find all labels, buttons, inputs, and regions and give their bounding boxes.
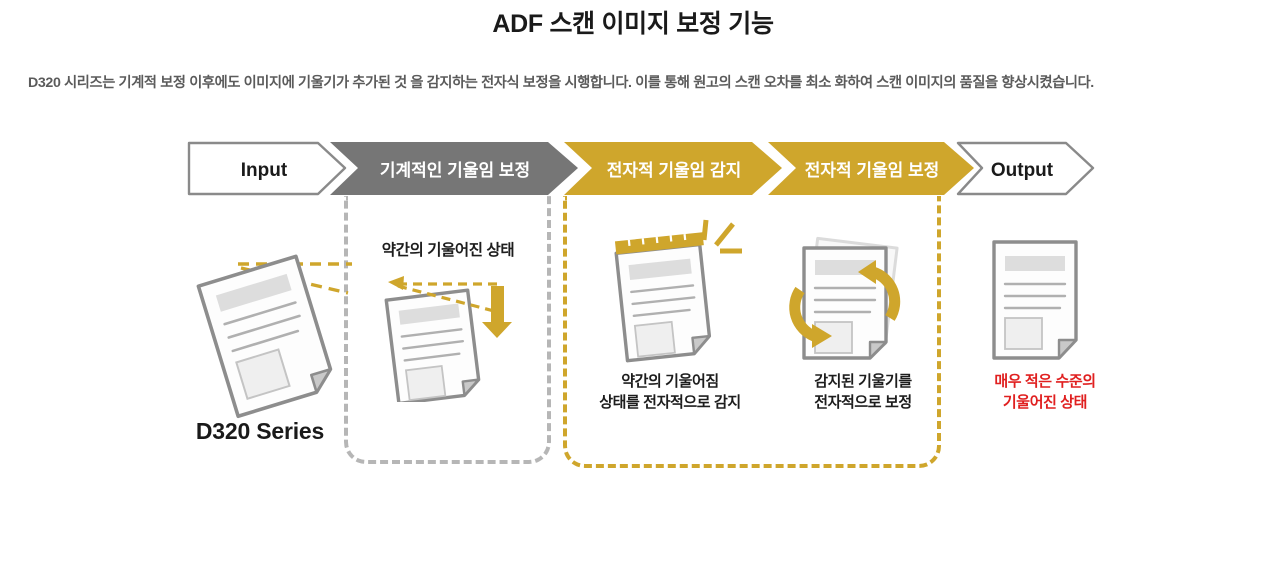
flow-step-label-mechanical[interactable]: 기계적인 기울임 보정 (345, 143, 565, 198)
output-paper (994, 242, 1076, 358)
detect-sparkle-icon (704, 220, 742, 251)
slide-canvas: ADF 스캔 이미지 보정 기능 D320 시리즈는 기계적 보정 이후에도 이… (0, 0, 1266, 587)
flow-step-label-detect[interactable]: 전자적 기울임 감지 (579, 143, 769, 198)
detect-panel-caption-line1: 약간의 기울어짐 (580, 372, 760, 392)
detect-paper (616, 245, 711, 361)
page-title: ADF 스캔 이미지 보정 기능 (0, 4, 1266, 40)
mechanical-paper (386, 290, 480, 402)
detect-panel-caption-line2: 상태를 전자적으로 감지 (580, 393, 760, 413)
flow-step-label-correct[interactable]: 전자적 기울임 보정 (783, 143, 961, 198)
mechanical-document-illustration (370, 272, 530, 402)
output-panel-caption-line1: 매우 적은 수준의 (955, 372, 1135, 392)
upward-arrow-icon (482, 286, 512, 338)
flow-step-label-input[interactable]: Input (189, 143, 339, 198)
detect-document-illustration (600, 218, 760, 373)
input-panel-caption: D320 Series (180, 418, 340, 445)
mechanical-panel-caption: 약간의 기울어진 상태 (363, 241, 533, 262)
output-document-illustration (980, 236, 1110, 376)
input-paper (198, 256, 335, 416)
correct-document-illustration (778, 232, 943, 377)
output-panel-caption-line2: 기울어진 상태 (955, 393, 1135, 413)
flow-step-label-output[interactable]: Output (962, 143, 1082, 198)
page-subtitle: D320 시리즈는 기계적 보정 이후에도 이미지에 기울기가 추가된 것 을 … (28, 72, 1243, 92)
correct-panel-caption-line1: 감지된 기울기를 (783, 372, 943, 392)
skew-arrow-head-left (388, 276, 404, 290)
correct-panel-caption-line2: 전자적으로 보정 (783, 393, 943, 413)
input-document-illustration (186, 246, 356, 421)
